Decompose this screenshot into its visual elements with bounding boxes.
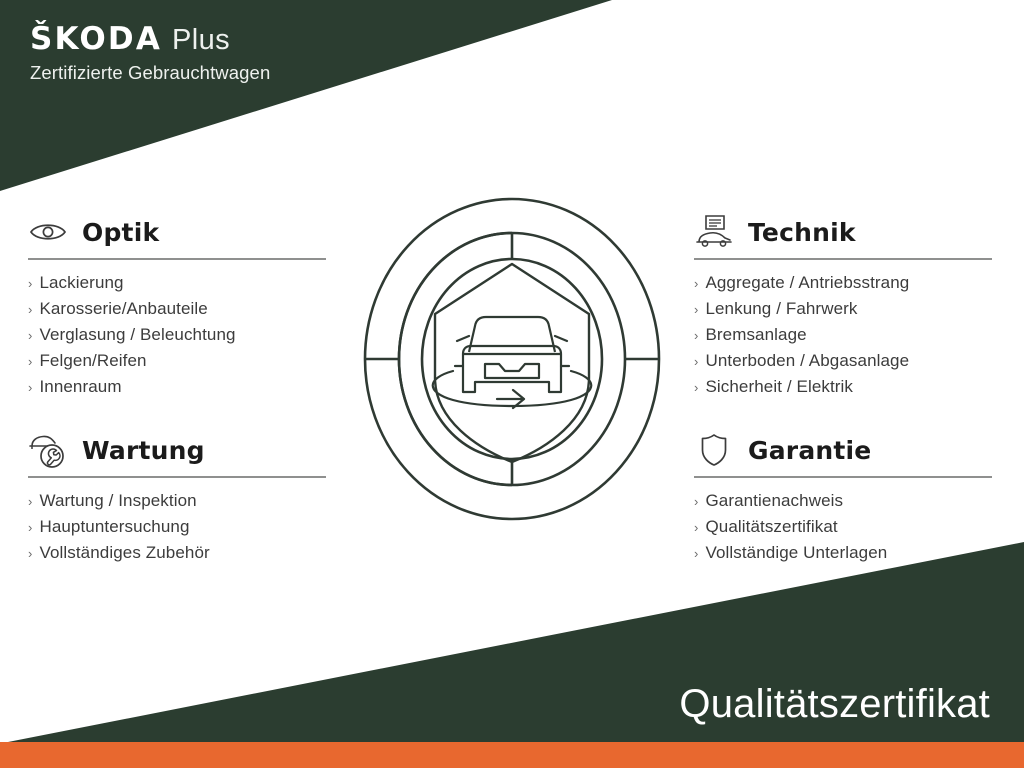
chevron-right-icon: › — [28, 495, 32, 508]
section-list-technik: ›Aggregate / Antriebsstrang ›Lenkung / F… — [694, 273, 1004, 397]
list-item-label: Verglasung / Beleuchtung — [39, 325, 235, 345]
list-item-label: Vollständige Unterlagen — [705, 543, 887, 563]
chevron-right-icon: › — [28, 329, 32, 342]
plus-wordmark: Plus — [172, 26, 230, 55]
section-header-garantie: Garantie — [694, 430, 1004, 470]
list-item-label: Qualitätszertifikat — [705, 517, 837, 537]
list-item: ›Innenraum — [28, 377, 338, 397]
list-item-label: Vollständiges Zubehör — [39, 543, 209, 563]
list-item: ›Verglasung / Beleuchtung — [28, 325, 338, 345]
list-item: ›Sicherheit / Elektrik — [694, 377, 1004, 397]
chevron-right-icon: › — [694, 329, 698, 342]
brand-subtitle: Zertifizierte Gebrauchtwagen — [30, 64, 270, 83]
list-item-label: Lackierung — [39, 273, 123, 293]
footer-title: Qualitätszertifikat — [679, 682, 990, 727]
section-divider-wartung — [28, 476, 326, 478]
section-list-wartung: ›Wartung / Inspektion ›Hauptuntersuchung… — [28, 491, 338, 563]
chevron-right-icon: › — [694, 355, 698, 368]
chevron-right-icon: › — [28, 381, 32, 394]
section-divider-optik — [28, 258, 326, 260]
section-wartung: Wartung ›Wartung / Inspektion ›Hauptunte… — [28, 430, 338, 569]
section-title-optik: Optik — [82, 218, 159, 247]
chevron-right-icon: › — [694, 303, 698, 316]
document-car-icon — [694, 214, 734, 250]
list-item: ›Garantienachweis — [694, 491, 1004, 511]
section-garantie: Garantie ›Garantienachweis ›Qualitätszer… — [694, 430, 1004, 569]
list-item: ›Lenkung / Fahrwerk — [694, 299, 1004, 319]
list-item: ›Wartung / Inspektion — [28, 491, 338, 511]
list-item-label: Aggregate / Antriebsstrang — [705, 273, 909, 293]
shield-car-rings-icon — [357, 196, 667, 522]
skoda-wordmark: ŠKODA — [30, 24, 162, 55]
section-technik: Technik ›Aggregate / Antriebsstrang ›Len… — [694, 212, 1004, 403]
list-item-label: Hauptuntersuchung — [39, 517, 189, 537]
list-item-label: Sicherheit / Elektrik — [705, 377, 853, 397]
eye-icon — [28, 214, 68, 250]
car-wrench-icon — [28, 432, 68, 468]
chevron-right-icon: › — [28, 547, 32, 560]
brand-logo: ŠKODA Plus Zertifizierte Gebrauchtwagen — [30, 24, 270, 83]
section-list-garantie: ›Garantienachweis ›Qualitätszertifikat ›… — [694, 491, 1004, 563]
chevron-right-icon: › — [28, 521, 32, 534]
chevron-right-icon: › — [28, 355, 32, 368]
chevron-right-icon: › — [28, 277, 32, 290]
list-item: ›Vollständige Unterlagen — [694, 543, 1004, 563]
section-title-technik: Technik — [748, 218, 856, 247]
chevron-right-icon: › — [694, 495, 698, 508]
section-divider-garantie — [694, 476, 992, 478]
list-item-label: Bremsanlage — [705, 325, 806, 345]
list-item-label: Innenraum — [39, 377, 121, 397]
list-item: ›Vollständiges Zubehör — [28, 543, 338, 563]
chevron-right-icon: › — [694, 381, 698, 394]
section-header-optik: Optik — [28, 212, 338, 252]
list-item-label: Garantienachweis — [705, 491, 843, 511]
list-item-label: Lenkung / Fahrwerk — [705, 299, 857, 319]
brand-wordmark-row: ŠKODA Plus — [30, 24, 270, 55]
chevron-right-icon: › — [694, 547, 698, 560]
chevron-right-icon: › — [694, 521, 698, 534]
section-divider-technik — [694, 258, 992, 260]
list-item-label: Karosserie/Anbauteile — [39, 299, 207, 319]
list-item: ›Lackierung — [28, 273, 338, 293]
list-item: ›Qualitätszertifikat — [694, 517, 1004, 537]
list-item: ›Aggregate / Antriebsstrang — [694, 273, 1004, 293]
list-item-label: Unterboden / Abgasanlage — [705, 351, 909, 371]
list-item: ›Felgen/Reifen — [28, 351, 338, 371]
section-header-technik: Technik — [694, 212, 1004, 252]
chevron-right-icon: › — [28, 303, 32, 316]
list-item-label: Wartung / Inspektion — [39, 491, 196, 511]
list-item-label: Felgen/Reifen — [39, 351, 146, 371]
section-header-wartung: Wartung — [28, 430, 338, 470]
orange-accent-bar — [0, 742, 1024, 768]
chevron-right-icon: › — [694, 277, 698, 290]
list-item: ›Karosserie/Anbauteile — [28, 299, 338, 319]
quality-certificate-page: ŠKODA Plus Zertifizierte Gebrauchtwagen … — [0, 0, 1024, 768]
section-optik: Optik ›Lackierung ›Karosserie/Anbauteile… — [28, 212, 338, 403]
section-title-wartung: Wartung — [82, 436, 205, 465]
list-item: ›Hauptuntersuchung — [28, 517, 338, 537]
section-list-optik: ›Lackierung ›Karosserie/Anbauteile ›Verg… — [28, 273, 338, 397]
list-item: ›Bremsanlage — [694, 325, 1004, 345]
section-title-garantie: Garantie — [748, 436, 871, 465]
shield-icon — [694, 432, 734, 468]
list-item: ›Unterboden / Abgasanlage — [694, 351, 1004, 371]
